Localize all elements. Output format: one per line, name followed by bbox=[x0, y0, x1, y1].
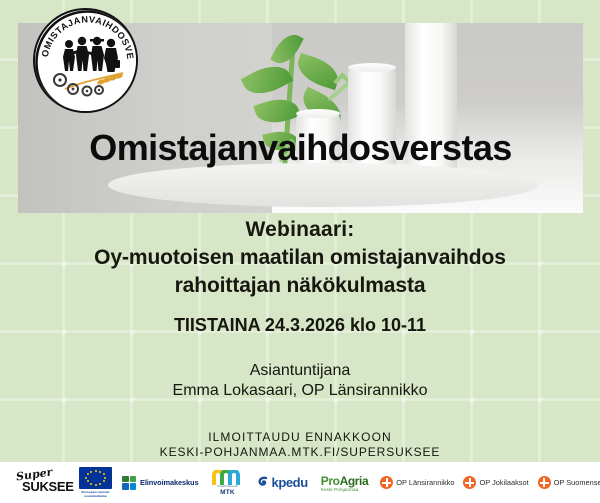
description-line-1: Oy-muotoisen maatilan omistajanvaihdos bbox=[0, 244, 600, 272]
op-mark-icon bbox=[463, 476, 476, 489]
kpedu-label: kpedu bbox=[271, 475, 307, 490]
logo-op-jokilaaksot: OP Jokilaaksot bbox=[463, 476, 528, 489]
logo-elinvoimakeskus: Elinvoimakeskus bbox=[122, 476, 198, 490]
proagria-label-agria: Agria bbox=[340, 474, 369, 488]
op-lansirannikko-label: OP Länsirannikko bbox=[396, 478, 454, 487]
logo-supersuksee: Super SUKSEE bbox=[14, 470, 68, 496]
expert-label: Asiantuntijana bbox=[0, 362, 600, 380]
poster-root: Omistajanvaihdosverstas OMISTAJANVAIHDOS… bbox=[0, 0, 600, 503]
expert-name: Emma Lokasaari, OP Länsirannikko bbox=[0, 382, 600, 400]
logo-eu-funding: Euroopan unionin osarahoittama bbox=[79, 467, 112, 499]
omistajanvaihdosverstas-logo: OMISTAJANVAIHDOSVERSTAS bbox=[33, 8, 138, 113]
proagria-label-pro: Pro bbox=[321, 474, 340, 488]
signup-label: ILMOITTAUDU ENNAKKOON bbox=[0, 430, 600, 444]
op-suomenselka-label: OP Suomenselkä bbox=[554, 478, 600, 487]
elinvoimakeskus-mark-icon bbox=[122, 476, 136, 490]
logo-op-suomenselka: OP Suomenselkä bbox=[538, 476, 600, 489]
eu-flag-icon bbox=[79, 467, 112, 489]
op-jokilaaksot-label: OP Jokilaaksot bbox=[479, 478, 528, 487]
eu-caption-line-2: osarahoittama bbox=[79, 495, 112, 499]
poster-body: Webinaari: Oy-muotoisen maatilan omistaj… bbox=[0, 218, 600, 459]
footer-logo-bar: Super SUKSEE bbox=[0, 462, 600, 503]
description-line-2: rahoittajan näkökulmasta bbox=[0, 272, 600, 300]
logo-op-lansirannikko: OP Länsirannikko bbox=[380, 476, 454, 489]
mtk-label: MTK bbox=[212, 489, 242, 496]
kpedu-mark-icon bbox=[256, 476, 269, 489]
elinvoimakeskus-label: Elinvoimakeskus bbox=[140, 478, 198, 487]
hero-podium bbox=[108, 163, 538, 207]
proagria-label: ProAgria bbox=[321, 474, 369, 488]
webinaari-label: Webinaari: bbox=[0, 218, 600, 242]
op-mark-icon bbox=[538, 476, 551, 489]
hero-title: Omistajanvaihdosverstas bbox=[18, 127, 583, 169]
signup-url[interactable]: KESKI-POHJANMAA.MTK.FI/SUPERSUKSEE bbox=[0, 445, 600, 459]
logo-kpedu: kpedu bbox=[256, 475, 307, 490]
logo-mtk: Keski-Pohjanmaa MTK bbox=[212, 470, 242, 496]
mtk-mark-icon bbox=[212, 470, 242, 485]
logo-proagria: ProAgria Keski-Pohjanmaa bbox=[321, 474, 369, 492]
date-time: TIISTAINA 24.3.2026 klo 10-11 bbox=[0, 315, 600, 336]
op-mark-icon bbox=[380, 476, 393, 489]
